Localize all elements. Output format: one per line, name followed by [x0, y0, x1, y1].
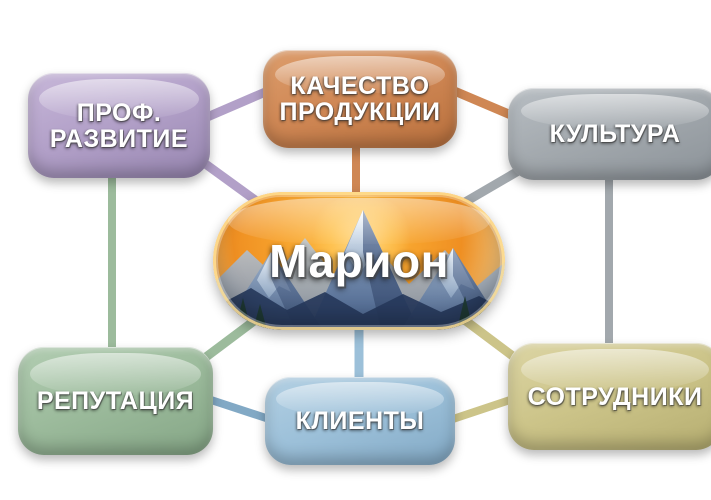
mind-map-diagram: Марион ПРОФ. РАЗВИТИЕКАЧЕСТВО ПРОДУКЦИИК…: [0, 0, 711, 500]
node-kultura[interactable]: КУЛЬТУРА: [508, 88, 711, 180]
node-label-klienty: КЛИЕНТЫ: [288, 408, 433, 434]
node-label-sotrudniki: СОТРУДНИКИ: [520, 384, 711, 410]
node-label-kachestvo-produkcii: КАЧЕСТВО ПРОДУКЦИИ: [271, 73, 448, 125]
center-node-label: Марион: [213, 192, 505, 330]
connector-prof-to-kachestvo: [205, 90, 270, 118]
node-klienty[interactable]: КЛИЕНТЫ: [265, 377, 455, 465]
node-label-prof-razvitie: ПРОФ. РАЗВИТИЕ: [42, 100, 196, 152]
node-kachestvo-produkcii[interactable]: КАЧЕСТВО ПРОДУКЦИИ: [263, 50, 457, 148]
node-label-reputaciya: РЕПУТАЦИЯ: [29, 388, 202, 414]
node-label-kultura: КУЛЬТУРА: [542, 121, 689, 147]
connector-klienty-to-sotrudniki: [450, 398, 516, 420]
node-prof-razvitie[interactable]: ПРОФ. РАЗВИТИЕ: [28, 73, 210, 178]
node-reputaciya[interactable]: РЕПУТАЦИЯ: [18, 347, 213, 455]
center-node-marion[interactable]: Марион: [213, 192, 505, 330]
node-sotrudniki[interactable]: СОТРУДНИКИ: [508, 343, 711, 450]
connector-reputaciya-to-klienty: [205, 398, 272, 420]
